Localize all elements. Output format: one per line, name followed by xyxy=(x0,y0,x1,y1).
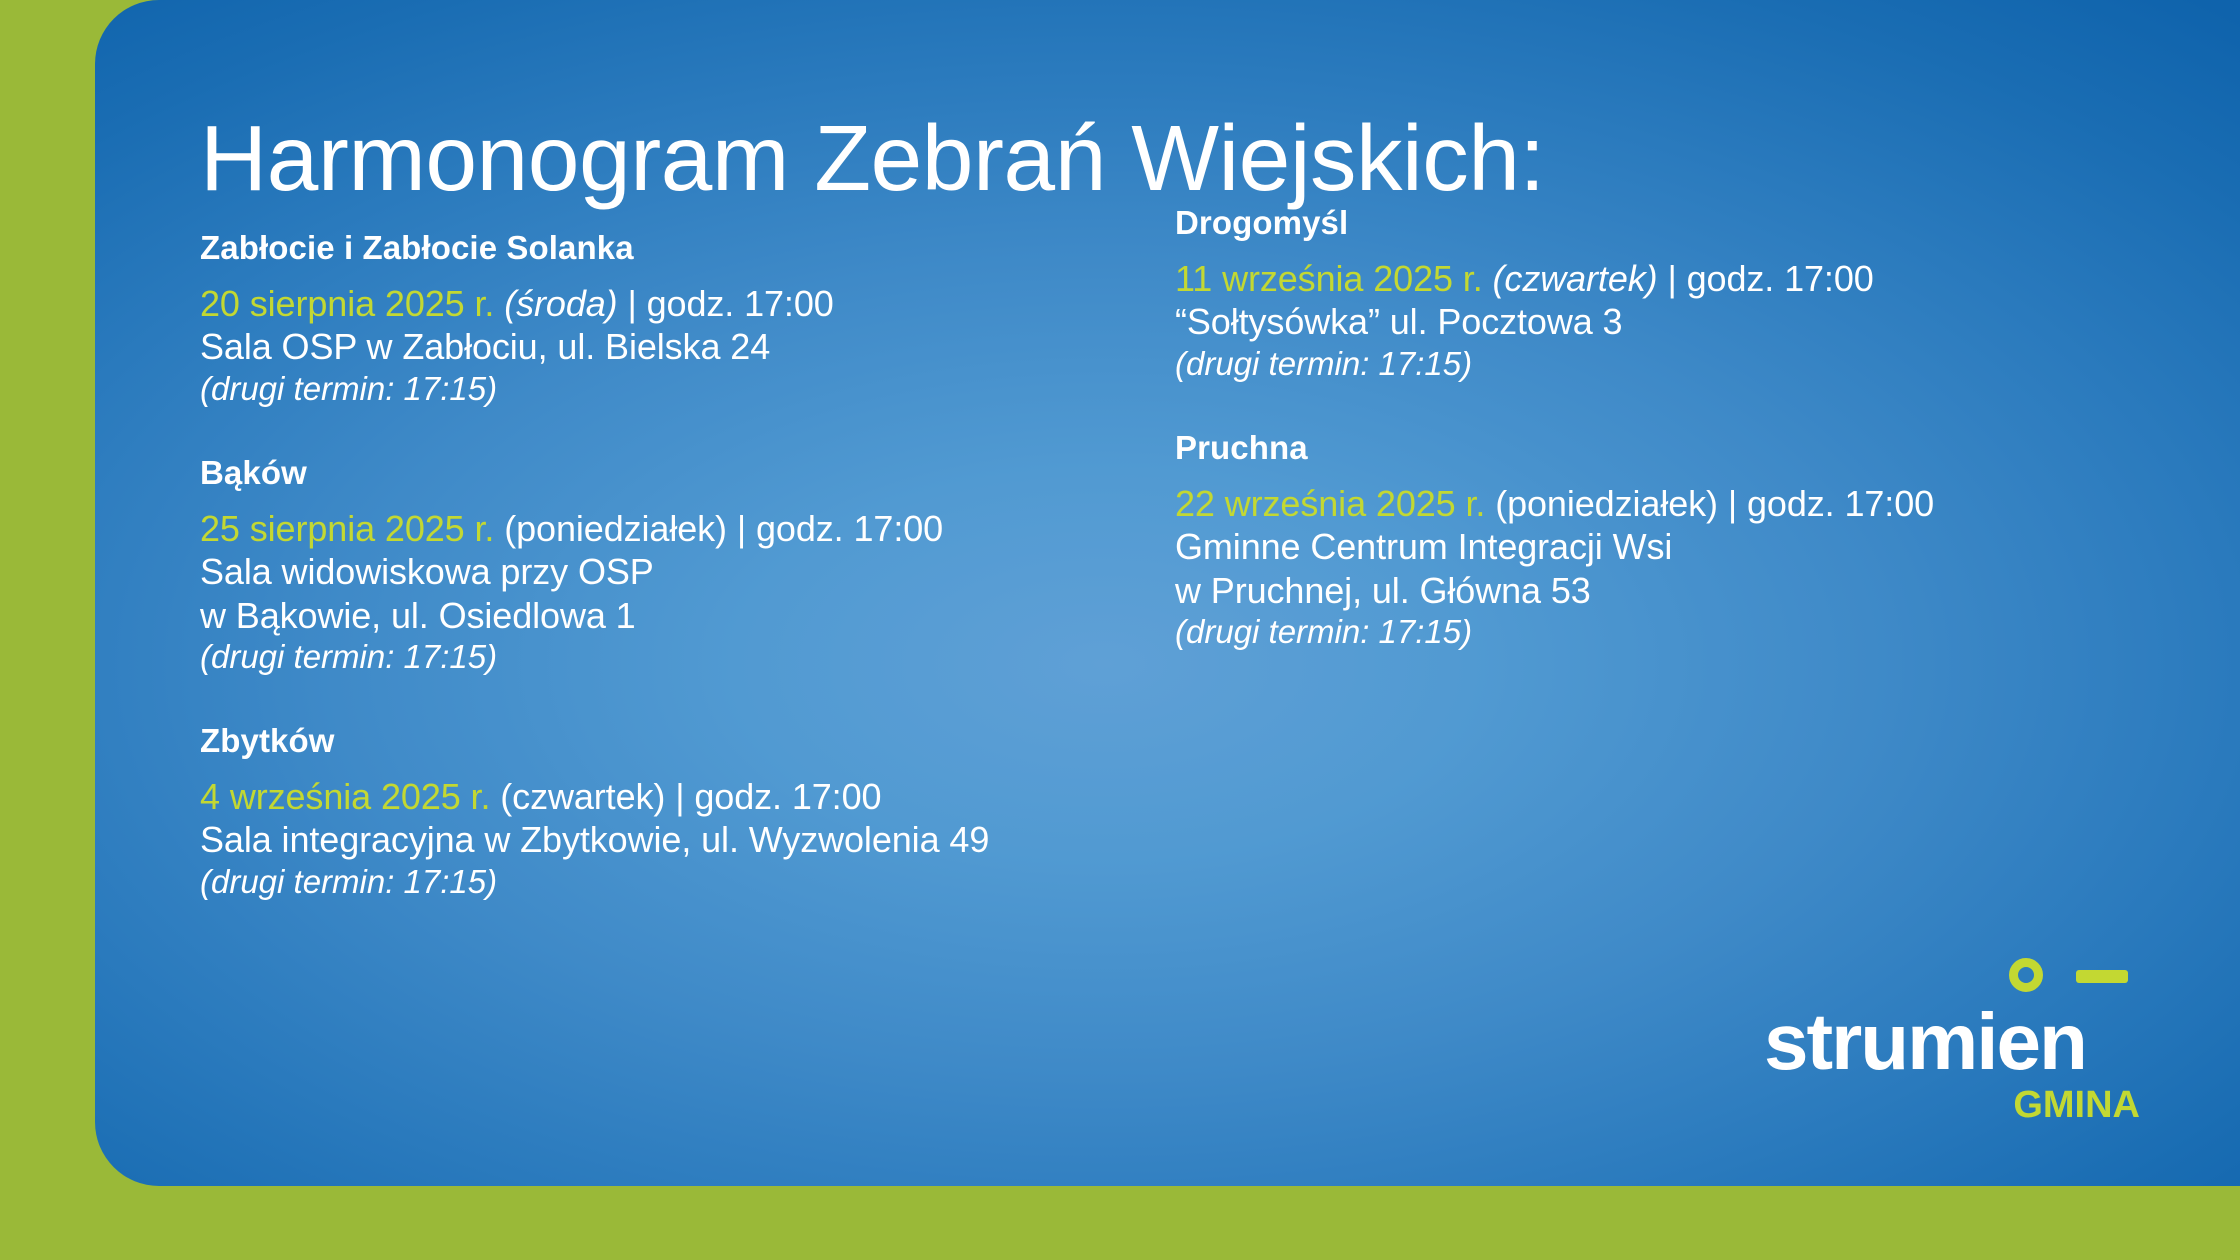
entry-village-name: Pruchna xyxy=(1175,428,2185,468)
entry-separator: | xyxy=(1718,483,1747,524)
entry-time: godz. 17:00 xyxy=(694,776,881,817)
entry-venue-line: Sala OSP w Zabłociu, ul. Bielska 24 xyxy=(200,325,1200,368)
entry-venue-line: “Sołtysówka” ul. Pocztowa 3 xyxy=(1175,300,2185,343)
logo-ring-icon xyxy=(2009,958,2043,992)
entry-datetime-line: 11 września 2025 r. (czwartek) | godz. 1… xyxy=(1175,257,2185,300)
logo-dash-icon xyxy=(2076,970,2128,983)
entry-weekday: (poniedziałek) xyxy=(1495,483,1718,524)
entry-weekday: (środa) xyxy=(504,283,617,324)
logo-wordmark: strumien xyxy=(1764,1002,2086,1082)
schedule-column-right: Drogomyśl11 września 2025 r. (czwartek) … xyxy=(1175,203,2185,652)
entry-date: 22 września 2025 r. xyxy=(1175,483,1485,524)
entry-second-term: (drugi termin: 17:15) xyxy=(1175,344,2185,384)
entry-time: godz. 17:00 xyxy=(647,283,834,324)
entry-village-name: Zabłocie i Zabłocie Solanka xyxy=(200,228,1200,268)
entry-second-term: (drugi termin: 17:15) xyxy=(200,862,1200,902)
entry-village-name: Bąków xyxy=(200,453,1200,493)
entry-separator: | xyxy=(618,283,647,324)
entry-venue-line: w Pruchnej, ul. Główna 53 xyxy=(1175,569,2185,612)
entry-weekday: (poniedziałek) xyxy=(504,508,727,549)
entry-venue-line: w Bąkowie, ul. Osiedlowa 1 xyxy=(200,594,1200,637)
entry-time: godz. 17:00 xyxy=(756,508,943,549)
entry-weekday: (czwartek) xyxy=(1493,258,1658,299)
entry-time: godz. 17:00 xyxy=(1687,258,1874,299)
entry-separator: | xyxy=(665,776,694,817)
entry-weekday: (czwartek) xyxy=(500,776,665,817)
entry-date: 4 września 2025 r. xyxy=(200,776,490,817)
schedule-entry: Drogomyśl11 września 2025 r. (czwartek) … xyxy=(1175,203,2185,384)
entry-venue-line: Sala widowiskowa przy OSP xyxy=(200,550,1200,593)
poster-root: Harmonogram Zebrań Wiejskich: Zabłocie i… xyxy=(0,0,2240,1260)
entry-datetime-line: 4 września 2025 r. (czwartek) | godz. 17… xyxy=(200,775,1200,818)
schedule-entry: Zabłocie i Zabłocie Solanka20 sierpnia 2… xyxy=(200,228,1200,409)
entry-second-term: (drugi termin: 17:15) xyxy=(1175,612,2185,652)
schedule-column-left: Zabłocie i Zabłocie Solanka20 sierpnia 2… xyxy=(200,228,1200,902)
strumien-gmina-logo: strumien GMINA xyxy=(1764,958,2144,1118)
entry-village-name: Drogomyśl xyxy=(1175,203,2185,243)
entry-date: 25 sierpnia 2025 r. xyxy=(200,508,494,549)
entry-venue-line: Gminne Centrum Integracji Wsi xyxy=(1175,525,2185,568)
entry-second-term: (drugi termin: 17:15) xyxy=(200,369,1200,409)
entry-separator: | xyxy=(727,508,756,549)
page-title: Harmonogram Zebrań Wiejskich: xyxy=(200,110,1545,208)
schedule-entry: Bąków25 sierpnia 2025 r. (poniedziałek) … xyxy=(200,453,1200,677)
entry-time: godz. 17:00 xyxy=(1747,483,1934,524)
entry-datetime-line: 25 sierpnia 2025 r. (poniedziałek) | god… xyxy=(200,507,1200,550)
entry-datetime-line: 22 września 2025 r. (poniedziałek) | god… xyxy=(1175,482,2185,525)
blue-content-panel: Harmonogram Zebrań Wiejskich: Zabłocie i… xyxy=(95,0,2240,1186)
schedule-entry: Zbytków4 września 2025 r. (czwartek) | g… xyxy=(200,721,1200,902)
entry-venue-line: Sala integracyjna w Zbytkowie, ul. Wyzwo… xyxy=(200,818,1200,861)
entry-date: 20 sierpnia 2025 r. xyxy=(200,283,494,324)
entry-datetime-line: 20 sierpnia 2025 r. (środa) | godz. 17:0… xyxy=(200,282,1200,325)
entry-date: 11 września 2025 r. xyxy=(1175,258,1483,299)
entry-second-term: (drugi termin: 17:15) xyxy=(200,637,1200,677)
logo-subtitle: GMINA xyxy=(2013,1086,2140,1124)
entry-separator: | xyxy=(1658,258,1687,299)
entry-village-name: Zbytków xyxy=(200,721,1200,761)
schedule-entry: Pruchna22 września 2025 r. (poniedziałek… xyxy=(1175,428,2185,652)
